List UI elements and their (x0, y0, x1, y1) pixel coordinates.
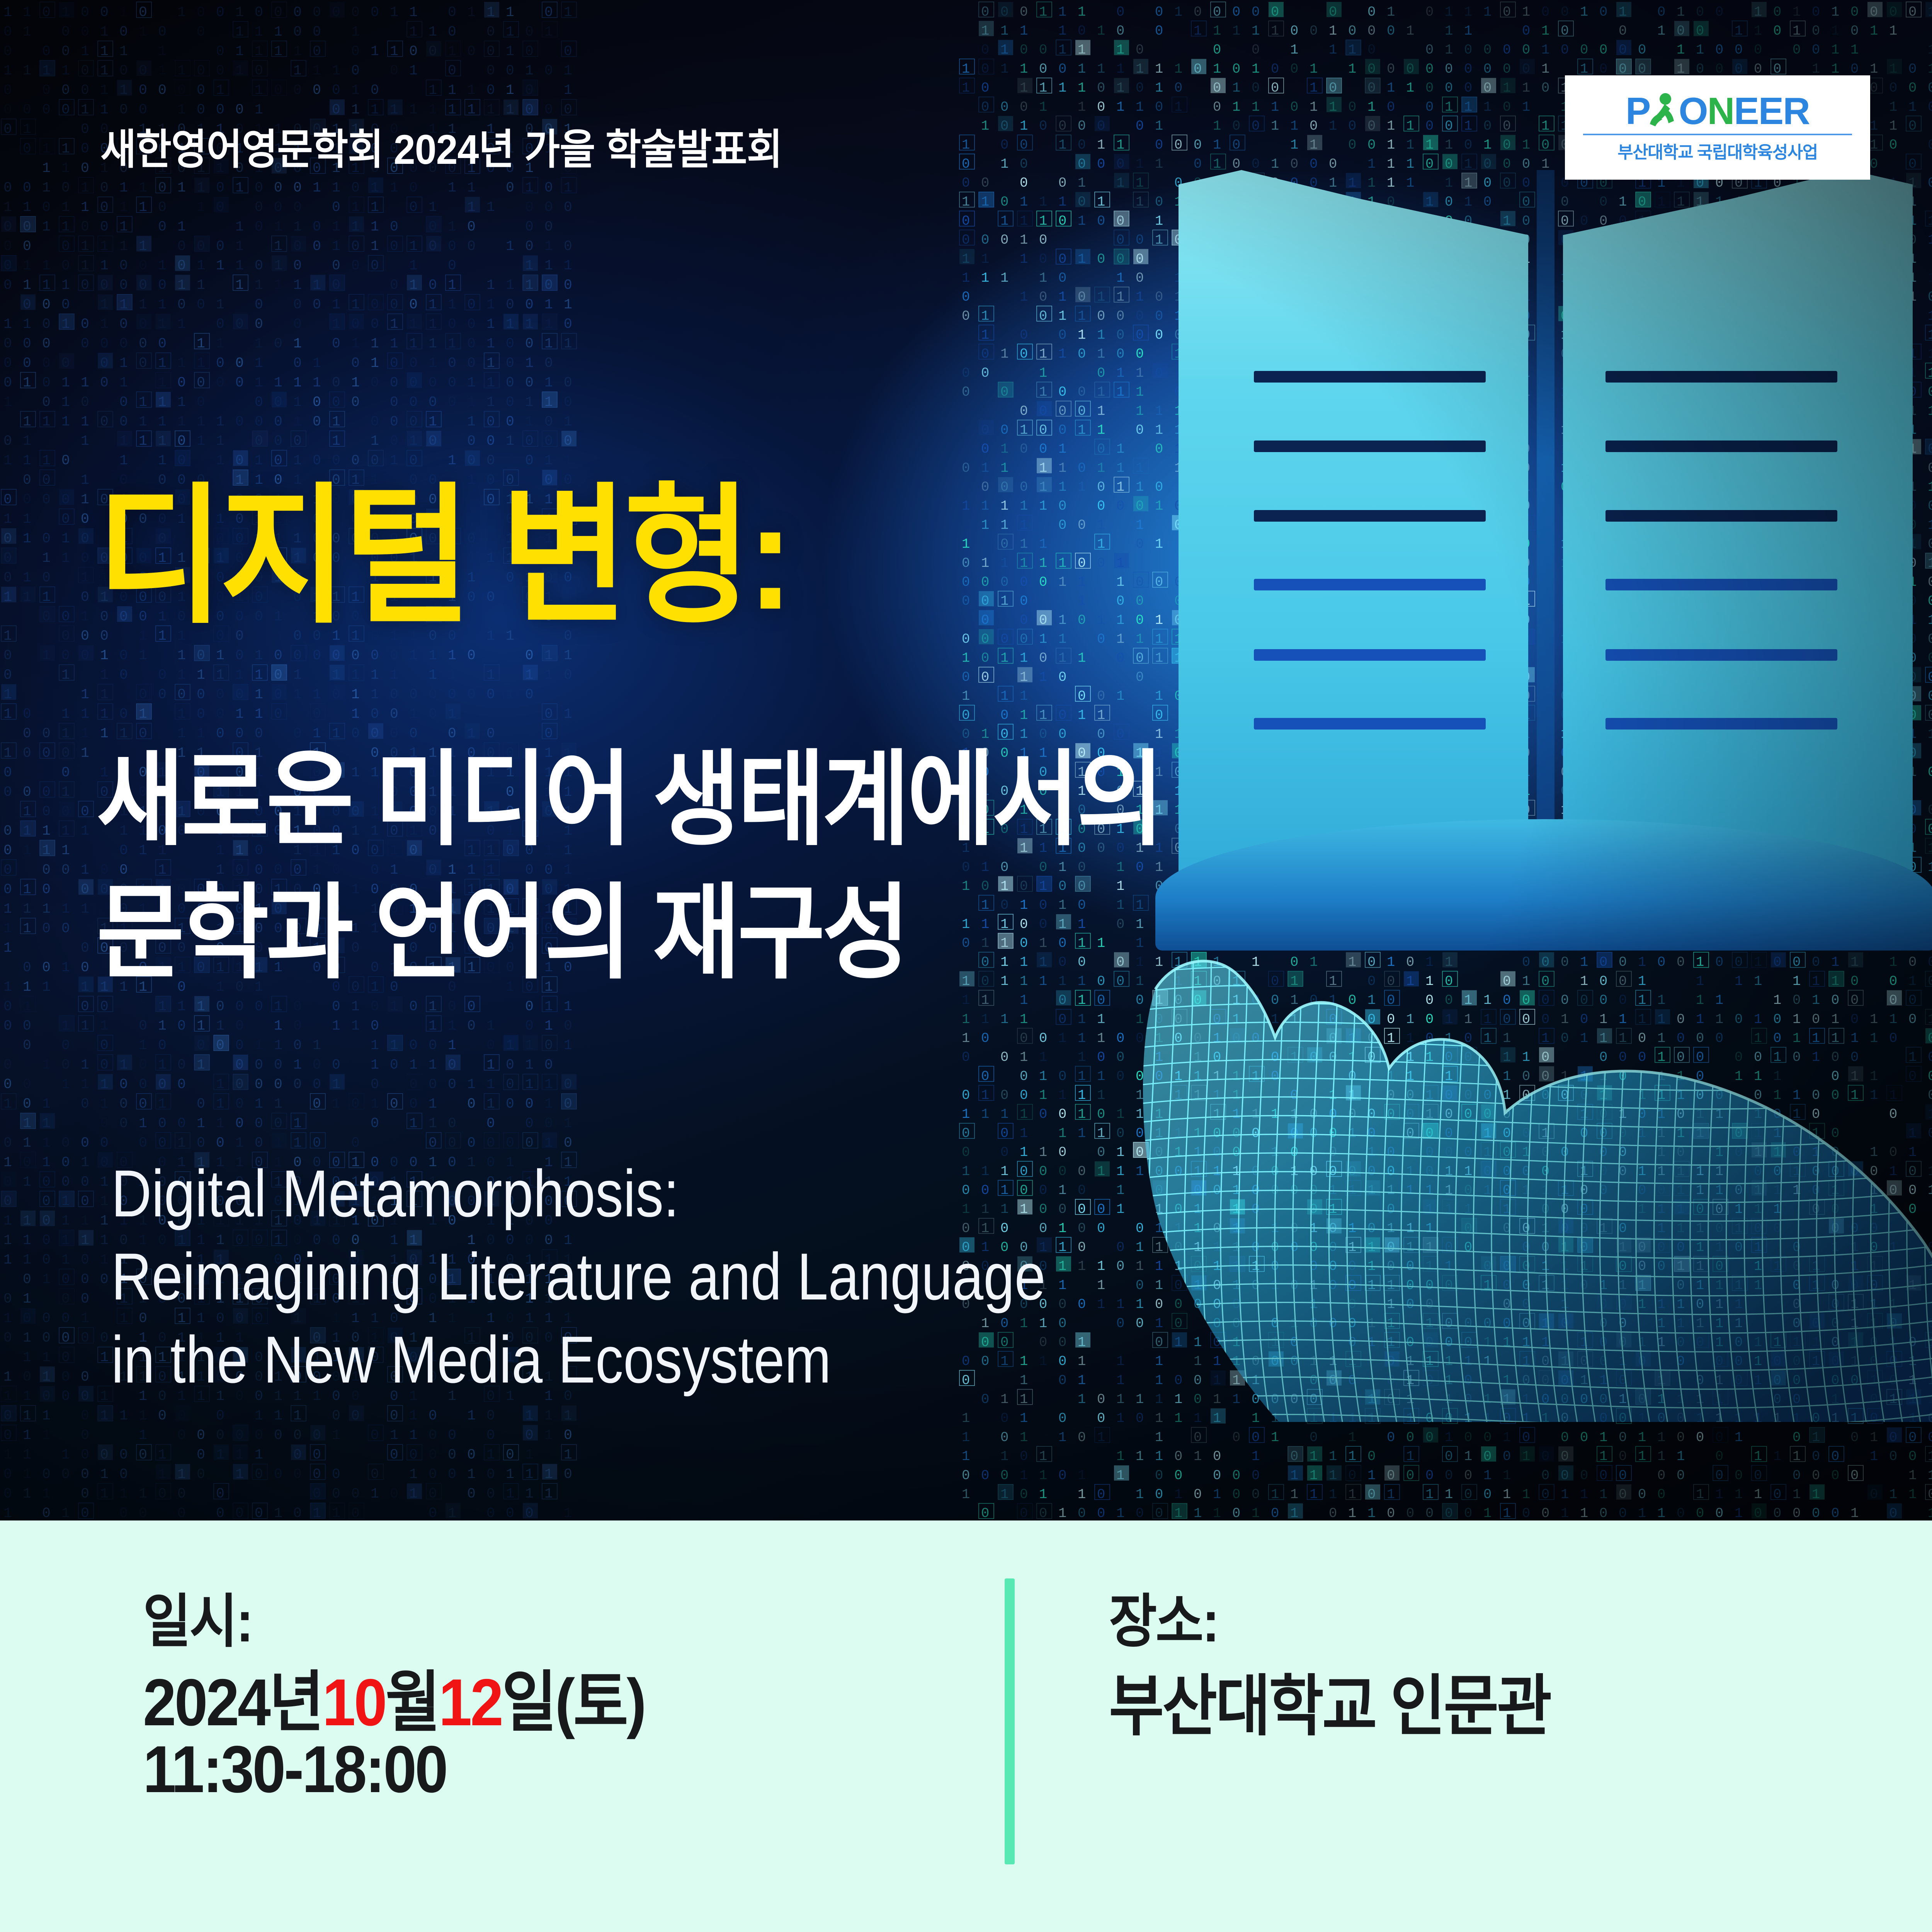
pioneer-letter-n: N (1708, 92, 1734, 130)
pioneer-letter-p: P (1626, 92, 1650, 130)
pioneer-letter-r: R (1783, 92, 1810, 130)
english-title-line2: Reimagining Literature and Language (111, 1236, 1046, 1318)
pioneer-divider (1583, 134, 1852, 135)
date-day-unit: 일(토) (502, 1665, 645, 1740)
date-month-unit: 월 (385, 1665, 439, 1740)
poster-title-main: 디지털 변형: (97, 481, 789, 632)
info-divider (1005, 1578, 1015, 1864)
venue-value: 부산대학교 인문관 (1109, 1652, 1550, 1748)
date-label: 일시: (143, 1575, 252, 1658)
date-value: 2024년10월12일(토) (143, 1648, 645, 1745)
date-year: 2024년 (143, 1665, 322, 1740)
conference-poster: 1101001010010000000110111010100101001110… (0, 0, 1932, 1932)
pioneer-logo: P O N E E R 부산대학교 국립대학육성사업 (1565, 75, 1870, 180)
event-info-band: 일시: 2024년10월12일(토) 11:30-18:00 (0, 1520, 1932, 1932)
pioneer-subtitle: 부산대학교 국립대학육성사업 (1617, 138, 1817, 163)
running-figure-icon (1648, 92, 1680, 129)
pioneer-wordmark: P O N E E R (1626, 92, 1810, 130)
event-header: 새한영어영문학회 2024년 가을 학술발표회 (100, 116, 782, 176)
pioneer-letter-e2: E (1759, 92, 1783, 130)
date-month-number: 10 (322, 1665, 385, 1740)
time-range: 11:30-18:00 (143, 1731, 446, 1808)
venue-label: 장소: (1109, 1575, 1218, 1658)
pioneer-letter-o: O (1679, 92, 1707, 130)
hero-section: 1101001010010000000110111010100101001110… (0, 0, 1932, 1520)
poster-title-sub-line1: 새로운 미디어 생태계에서의 (97, 748, 1162, 851)
poster-title-sub-line2: 문학과 언어의 재구성 (97, 881, 907, 985)
date-day-number: 12 (439, 1665, 502, 1740)
pioneer-letter-e1: E (1734, 92, 1758, 130)
english-title-line3: in the New Media Ecosystem (111, 1320, 831, 1401)
english-title-line1: Digital Metamorphosis: (111, 1153, 679, 1235)
